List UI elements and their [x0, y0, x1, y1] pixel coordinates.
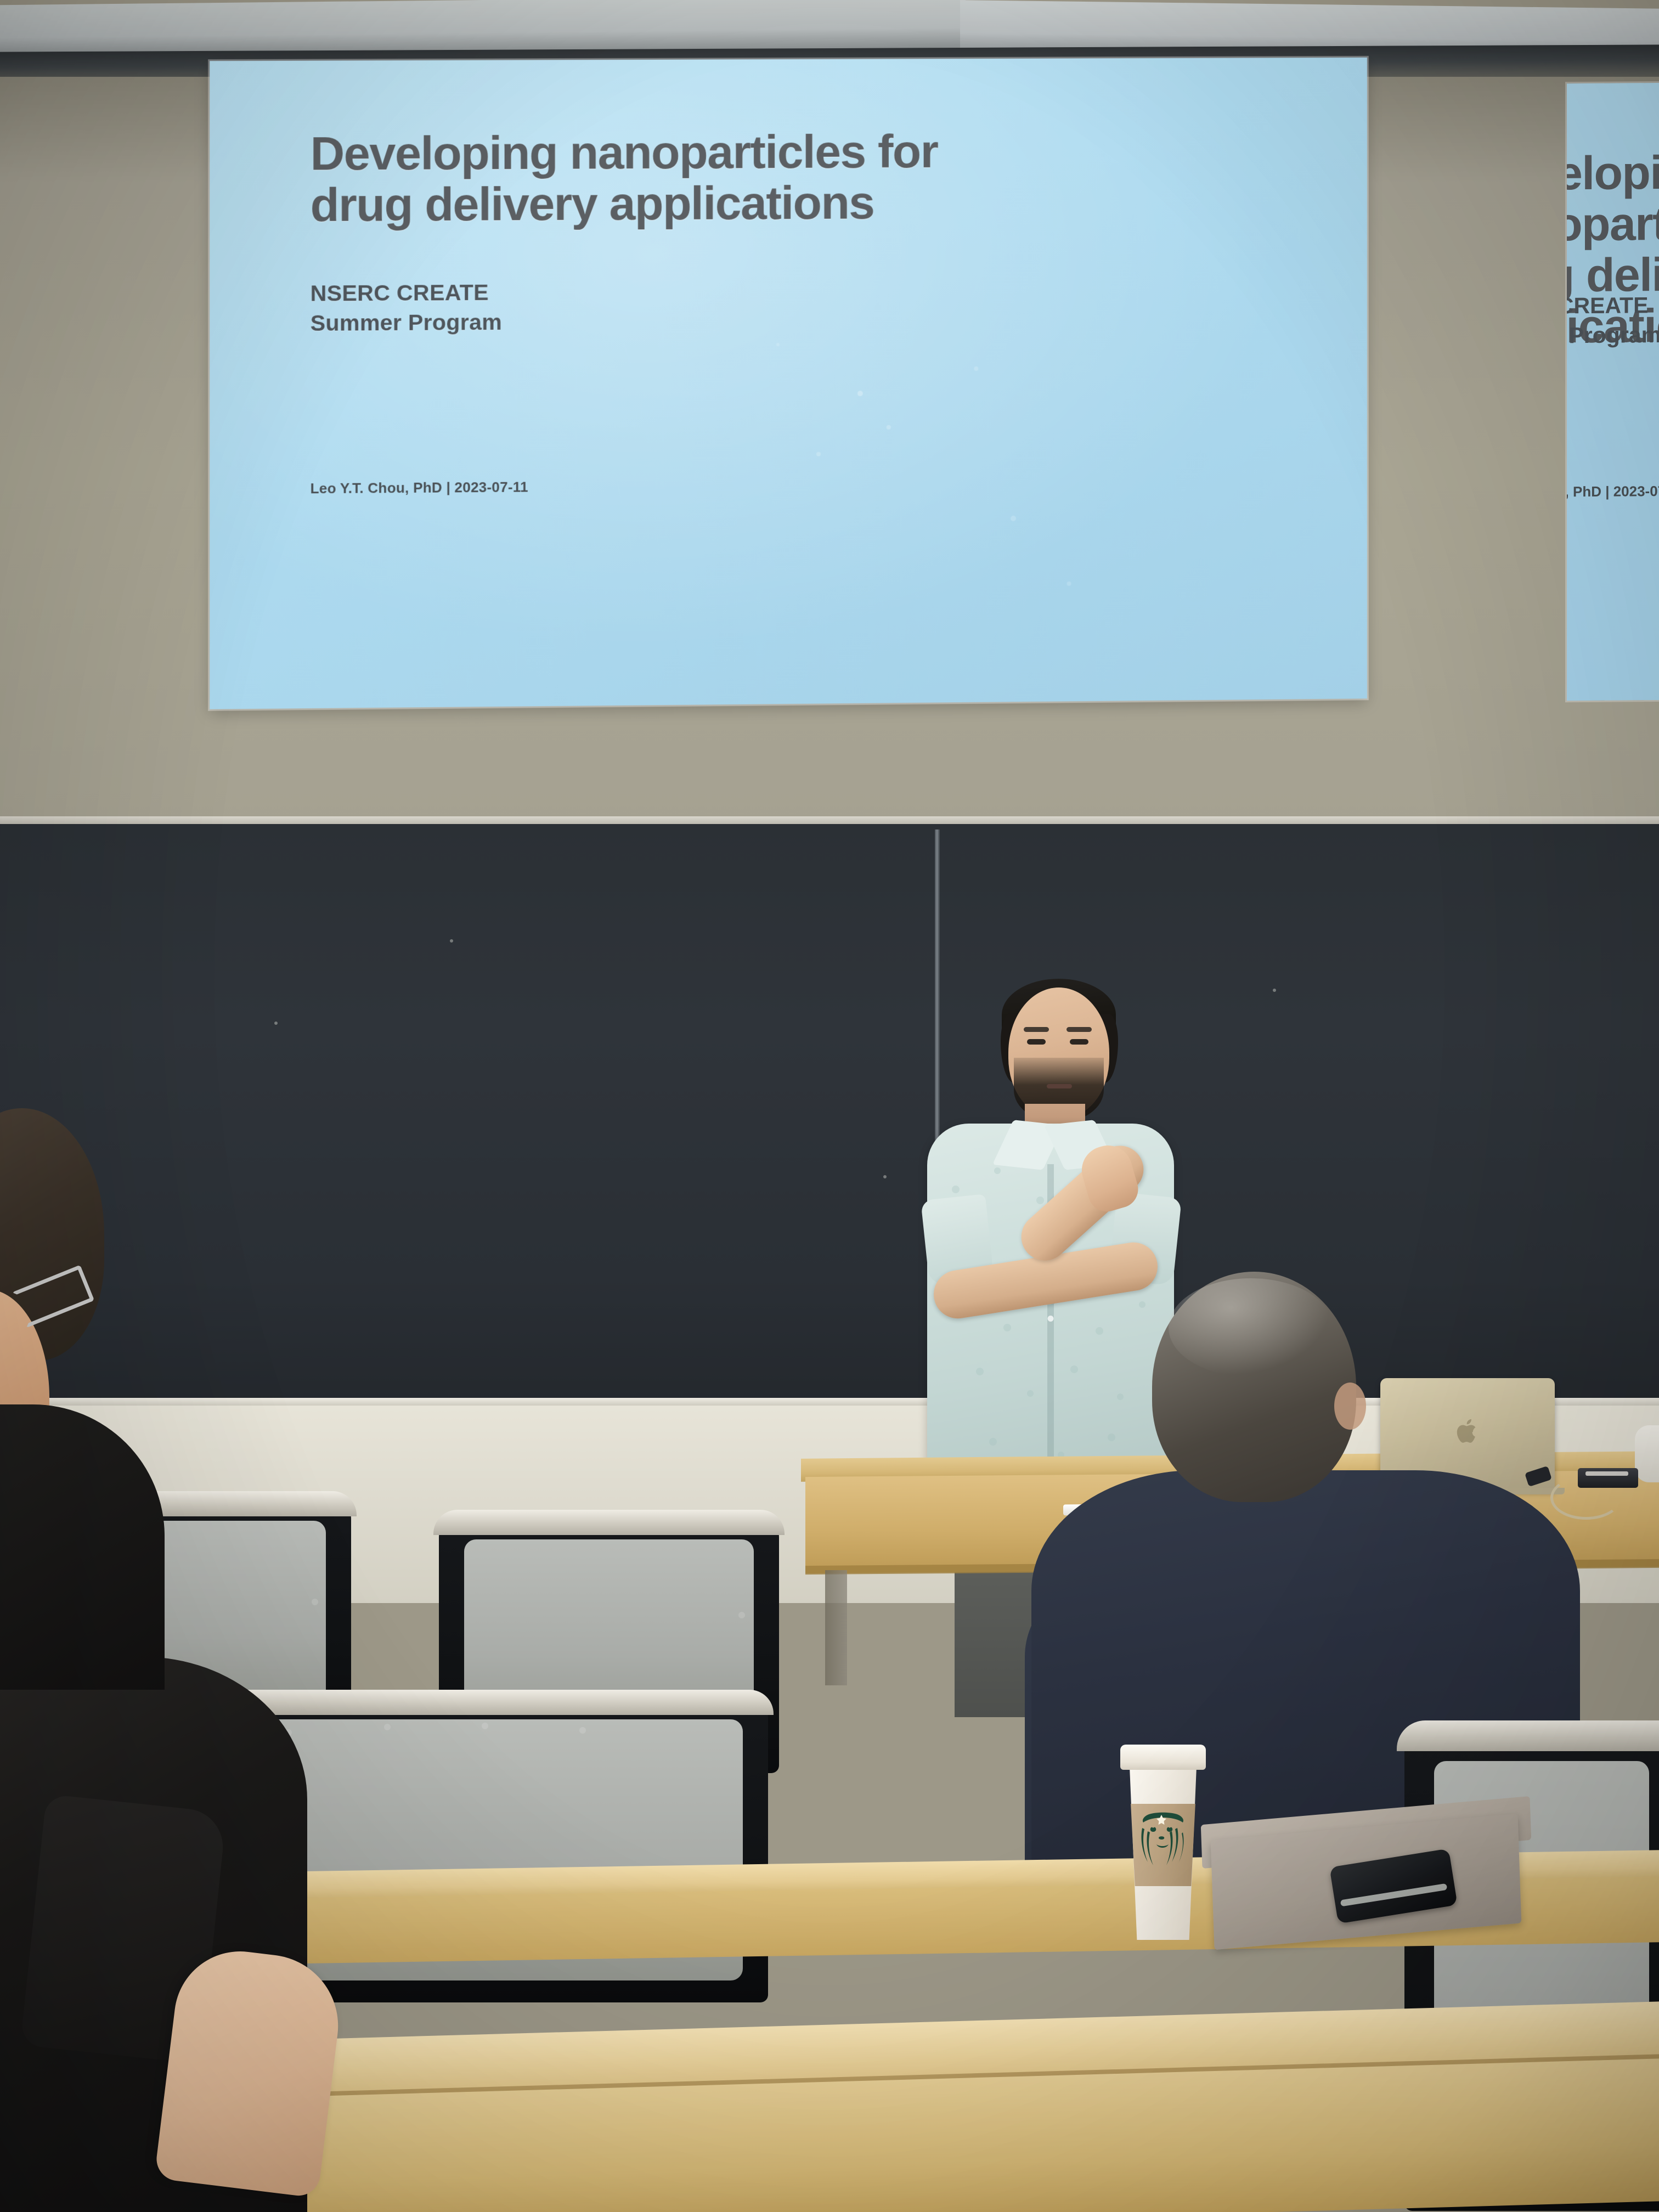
slide2-subtitle-line-2: Summer Program [1567, 319, 1659, 351]
power-adapter-label [1585, 1471, 1628, 1476]
cup-lid [1120, 1745, 1206, 1770]
projection-screen-main: Developing nanoparticles for drug delive… [210, 58, 1367, 709]
presenter-eye-right [1070, 1039, 1088, 1045]
presenter-brow-left [1024, 1027, 1049, 1032]
presenter-eye-left [1027, 1039, 1046, 1045]
chair-piping [214, 1690, 774, 1715]
slide-title-line-1: Developing nanoparticles for [311, 125, 1283, 180]
starbucks-coffee-cup[interactable] [1120, 1745, 1206, 1942]
seated-attendee-ear [1334, 1383, 1366, 1430]
apple-logo-icon [1455, 1417, 1480, 1446]
slide-title: Developing nanoparticles for drug delive… [311, 125, 1283, 231]
slide-subtitle-line-2: Summer Program [311, 304, 1122, 338]
chalkboard [0, 824, 1659, 1406]
slide-subtitle: NSERC CREATE Summer Program [311, 274, 1122, 338]
front-table-leg [825, 1570, 847, 1685]
slide2-subtitle: NSERC CREATE Summer Program [1567, 289, 1659, 351]
presenter-mouth [1047, 1084, 1072, 1088]
lecture-hall-photo: Developing nanoparticles for drug delive… [0, 0, 1659, 2212]
slide-title-line-2: drug delivery applications [311, 176, 1283, 232]
slide-subtitle-line-1: NSERC CREATE [311, 274, 1122, 308]
slide2-subtitle-line-1: NSERC CREATE [1567, 289, 1659, 321]
chair-piping [1397, 1720, 1659, 1751]
presenter-brow-right [1066, 1027, 1092, 1032]
starbucks-siren-icon [1130, 1806, 1196, 1884]
phone-screen-edge-glint [1340, 1883, 1447, 1907]
chair-piping [433, 1510, 785, 1535]
slide2-title-line-1: Developing nanoparticles for [1567, 146, 1659, 251]
slide2-footer: Leo Y.T. Chou, PhD | 2023-07-11 [1567, 483, 1659, 501]
desk-equipment-white [1635, 1425, 1659, 1482]
seated-attendee-hair-highlight [1169, 1278, 1333, 1377]
slide-footer: Leo Y.T. Chou, PhD | 2023-07-11 [311, 479, 528, 498]
projection-screen-secondary: Developing nanoparticles for drug delive… [1567, 81, 1659, 701]
